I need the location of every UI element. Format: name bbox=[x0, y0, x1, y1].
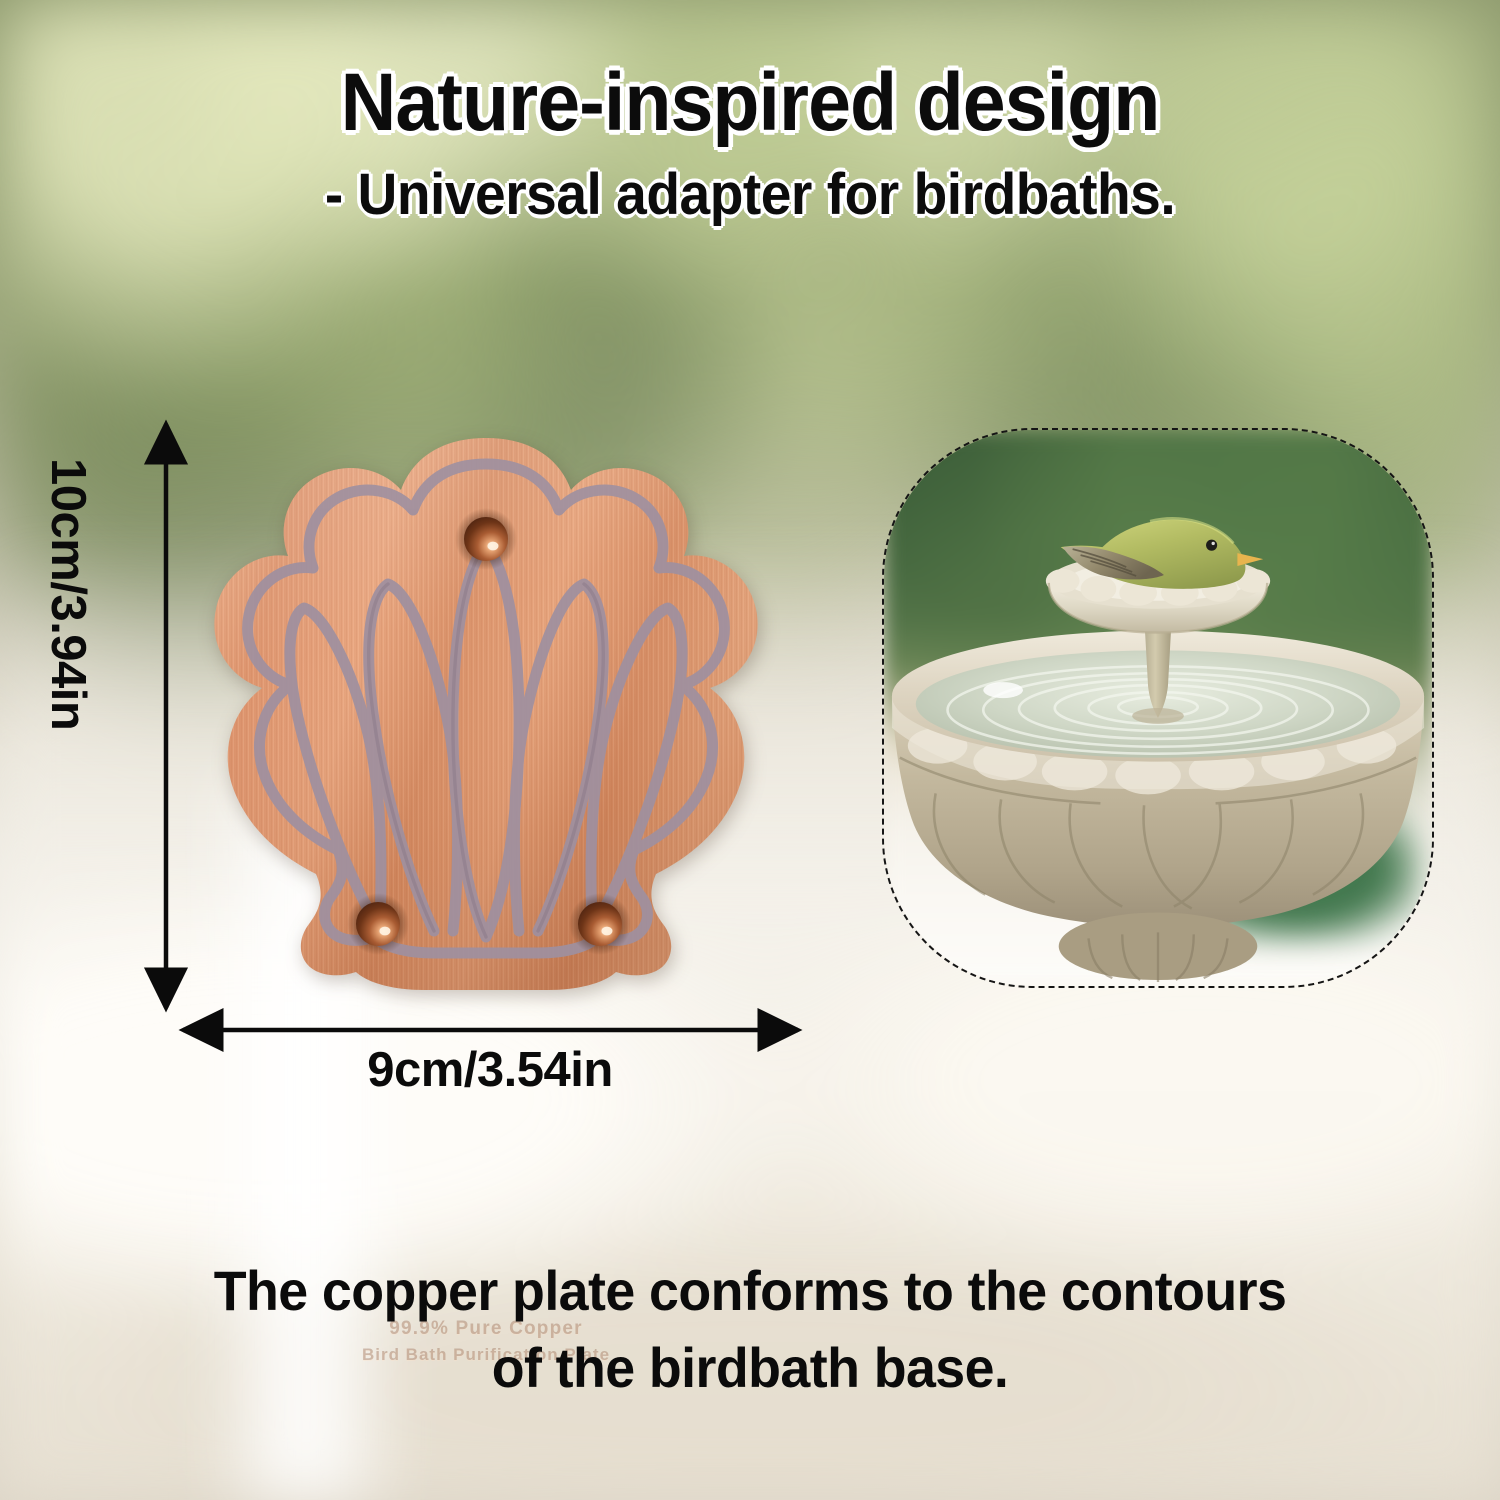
width-dimension-label: 9cm/3.54in bbox=[180, 1042, 800, 1098]
height-dimension-label: 10cm/3.94in bbox=[40, 458, 96, 718]
copper-shell-graphic bbox=[176, 412, 796, 1032]
headline-secondary: - Universal adapter for birdbaths. bbox=[38, 166, 1463, 224]
headline-primary: Nature-inspired design bbox=[45, 62, 1455, 144]
rivet-bottom-left bbox=[347, 893, 409, 955]
rivet-top bbox=[455, 508, 517, 570]
birdbath-foot bbox=[1059, 913, 1258, 983]
birdbath-illustration bbox=[884, 430, 1432, 986]
birdbath-photo-frame bbox=[882, 428, 1434, 988]
caption-line-2: of the birdbath base. bbox=[30, 1329, 1470, 1406]
product-infographic: Nature-inspired design - Universal adapt… bbox=[0, 0, 1500, 1500]
rivet-bottom-right bbox=[569, 893, 631, 955]
bottom-caption: The copper plate conforms to the contour… bbox=[30, 1252, 1470, 1407]
birdbath-photo bbox=[884, 430, 1432, 986]
copper-shell-plate: 99.9% Pure Copper Bird Bath Purification… bbox=[176, 412, 796, 1032]
headline-block: Nature-inspired design - Universal adapt… bbox=[0, 62, 1500, 224]
caption-line-1: The copper plate conforms to the contour… bbox=[30, 1252, 1470, 1329]
